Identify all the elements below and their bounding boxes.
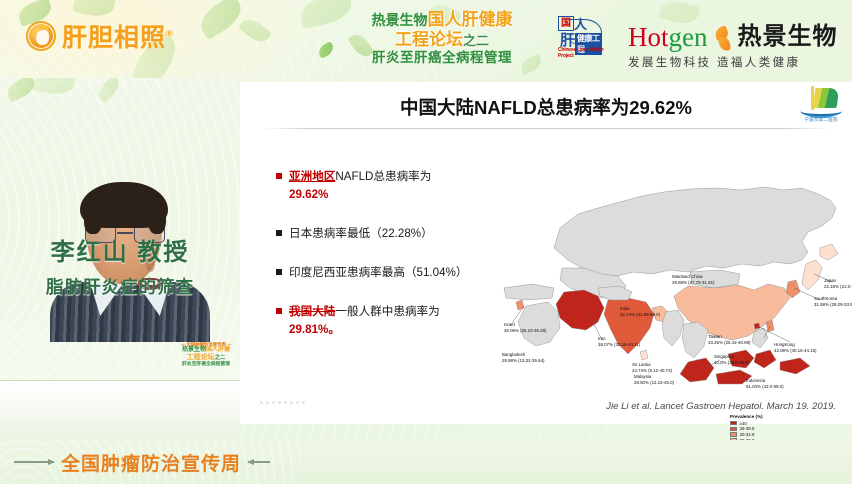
registered-mark: ® (166, 29, 174, 39)
bullet-marker-icon (276, 230, 282, 236)
brand-logo-gandanxiangzhao: 肝胆相照® (26, 18, 174, 54)
desk-surface (0, 380, 240, 440)
bullet-number: 29.81%。 (289, 323, 340, 336)
map-label-israel: Israel30.06% (25.10-35.28) (504, 322, 546, 333)
slide-decoration-dots (260, 401, 305, 404)
liver-logo-graphic: 国 人 肝 健康工程 (558, 16, 602, 46)
hotgen-logo: Hotgen 热景生物 发展生物科技 造福人类健康 (628, 16, 838, 70)
mini-banner-line3: 工程论坛之二 (178, 354, 234, 362)
bullet-marker-icon (276, 173, 282, 179)
map-region-sri-lanka (640, 350, 648, 360)
forum-title-highlight: 国人肝健康 (428, 10, 513, 29)
map-region-hokkaido (820, 244, 838, 260)
forum-title-line2: 工程论坛之二 (336, 30, 548, 50)
map-region-iran (556, 290, 604, 330)
legend-title: Prevalence (%) (730, 414, 763, 419)
brand-name-text: 肝胆相照 (62, 24, 166, 52)
arrow-right-icon (14, 461, 54, 463)
bullet-highlight: 亚洲地区 (289, 170, 335, 183)
legend-label: 30-34.9 (740, 432, 755, 437)
mini-banner-line3-main: 工程论坛 (187, 354, 215, 361)
mini-banner-line2: 热景生物国人肝健 (178, 347, 234, 354)
forum-title-prefix: 热景生物 (372, 12, 428, 28)
map-region-indonesia-sulawesi (754, 350, 776, 368)
legend-entry: ≥40 (730, 421, 763, 426)
bullet-number: 29.62% (289, 188, 328, 201)
mini-banner-line2-highlight: 国人肝健 (206, 347, 230, 353)
legend-label: 35-39.9 (740, 426, 755, 431)
mini-banner-line2-prefix: 热景生物 (182, 347, 206, 353)
bullet-strikethrough: 我国大陆 (289, 305, 335, 318)
speaker-topic: 脂肪肝炎症的筛查 (0, 274, 240, 299)
bullet-marker-icon (276, 269, 282, 275)
map-label-sri-lanka: Sri Lanka24.74% (9.12-40.73) (632, 362, 672, 373)
slide-title: 中国大陆NAFLD总患病率为29.62% (240, 94, 852, 120)
footer-content: 全国肿瘤防治宣传周 (0, 449, 270, 476)
speaker-info-block: 李红山 教授 脂肪肝炎症的筛查 (0, 232, 240, 299)
bullet-text: 亚洲地区NAFLD总患病率为29.62% (289, 168, 431, 204)
leaf-decoration-icon (316, 41, 336, 59)
forum-title-line1: 热景生物国人肝健康 (336, 10, 548, 30)
liver-logo-char-2: 人 (574, 14, 587, 33)
slide-citation: Jie Li et al. Lancet Gastroen Hepatol. M… (606, 401, 836, 412)
hotgen-wordmark-h: H (628, 22, 648, 52)
forum-title-block: 热景生物国人肝健康 工程论坛之二 肝炎至肝癌全病程管理 (336, 10, 548, 66)
brand-name: 肝胆相照® (62, 18, 174, 54)
hotgen-wordmark-gen: gen (669, 22, 708, 52)
slide-title-divider (262, 128, 830, 129)
header-bar: 肝胆相照® 热景生物国人肝健康 工程论坛之二 肝炎至肝癌全病程管理 国 人 肝 … (0, 0, 852, 78)
footer-campaign-text: 全国肿瘤防治宣传周 (61, 449, 241, 476)
map-region-indonesia-papua (780, 358, 810, 374)
hotgen-chinese-name: 热景生物 (738, 16, 838, 51)
map-region-israel (516, 300, 524, 310)
legend-label: ≥40 (740, 421, 747, 426)
map-label-iran: Iran38.07% (32.18-44.11) (598, 336, 640, 347)
slide-bullet-list: 亚洲地区NAFLD总患病率为29.62% 日本患病率最低（22.28%） 印度尼… (276, 168, 491, 360)
map-label-singapore: Singapore40.0% (35.0-45.0) (714, 354, 749, 365)
liver-health-project-logo: 国 人 肝 健康工程 Chinese Liver Health Project (558, 14, 610, 64)
map-label-india: India32.24% (31.59-59.0) (620, 306, 660, 317)
map-label-japan: Japan22.18% (21.0-34.0) (824, 278, 852, 289)
map-label-malaysia: Malaysia28.50% (13.15-45.0) (634, 374, 674, 385)
arrow-left-icon (248, 461, 270, 463)
list-item: 我国大陆一般人群中患病率为29.81%。 (276, 303, 491, 339)
legend-swatch (730, 432, 737, 437)
forum-subtitle: 肝炎至肝癌全病程管理 (336, 50, 548, 66)
legend-swatch (730, 427, 737, 432)
mini-event-banner: 一 全国肿瘤防治宣传周 一 热景生物国人肝健 工程论坛之二 肝炎至肝癌全病程管理 (178, 342, 234, 378)
butterfly-icon (713, 27, 733, 53)
map-label-hongkong: HongKong42.08% (40.15-44.15) (774, 342, 816, 353)
map-region-west (504, 284, 554, 300)
forum-title-suffix: 之二 (463, 33, 489, 48)
map-region-indonesia-sumatra (680, 358, 714, 382)
asia-prevalence-map: Prevalence (%) ≥40 35-39.9 30-34.9 25-29… (502, 156, 842, 386)
bullet-text: 印度尼西亚患病率最高（51.04%） (289, 264, 467, 282)
map-region-russia (554, 187, 836, 276)
list-item: 亚洲地区NAFLD总患病率为29.62% (276, 168, 491, 204)
map-region-indochina (682, 322, 708, 358)
bullet-plain: 一般人群中患病率为 (335, 305, 439, 318)
bullet-marker-icon (276, 308, 282, 314)
map-label-bangladesh: Bangladesh28.98% (13.32-35.64) (502, 352, 544, 363)
list-item: 日本患病率最低（22.28%） (276, 225, 491, 243)
bullet-plain: NAFLD总患病率为 (335, 170, 431, 183)
hotgen-logo-row: Hotgen 热景生物 (628, 16, 838, 51)
bullet-text: 日本患病率最低（22.28%） (289, 225, 433, 243)
map-label-south-korea: SouthKorea31.58% (29.29-33.96) (814, 296, 852, 307)
presenter-hair (80, 182, 168, 228)
hotgen-wordmark-ot: ot (648, 22, 669, 52)
map-region-japan (802, 260, 822, 290)
map-label-mainland-china: Mainland China29.88% (27.78-31.91) (672, 274, 714, 285)
map-label-indonesia: Indonesia51.04% (43.0-59.0) (746, 378, 784, 389)
liver-emblem-icon (26, 21, 56, 51)
hotgen-wordmark: Hotgen (628, 25, 708, 51)
map-label-taiwan: Taiwan33.25% (25.42-40.98) (708, 334, 750, 345)
bullet-text: 我国大陆一般人群中患病率为29.81%。 (289, 303, 440, 339)
presentation-slide: 宁波市第二医院 中国大陆NAFLD总患病率为29.62% 亚洲地区NAFLD总患… (240, 82, 852, 424)
hotgen-tagline: 发展生物科技 造福人类健康 (628, 54, 838, 70)
list-item: 印度尼西亚患病率最高（51.04%） (276, 264, 491, 282)
map-region-myanmar (662, 310, 684, 346)
footer-bar: 全国肿瘤防治宣传周 (0, 440, 852, 484)
legend-entry: 35-39.9 (730, 426, 763, 431)
legend-swatch (730, 421, 737, 426)
speaker-name: 李红山 教授 (0, 232, 240, 267)
liver-logo-subtitle: Chinese Liver Health Project (558, 47, 610, 59)
forum-title-main: 工程论坛 (395, 30, 463, 49)
mini-banner-line3-suffix: 之二 (215, 355, 226, 361)
legend-entry: 30-34.9 (730, 432, 763, 437)
mini-banner-line4: 肝炎至肝癌全病程管理 (178, 362, 234, 367)
